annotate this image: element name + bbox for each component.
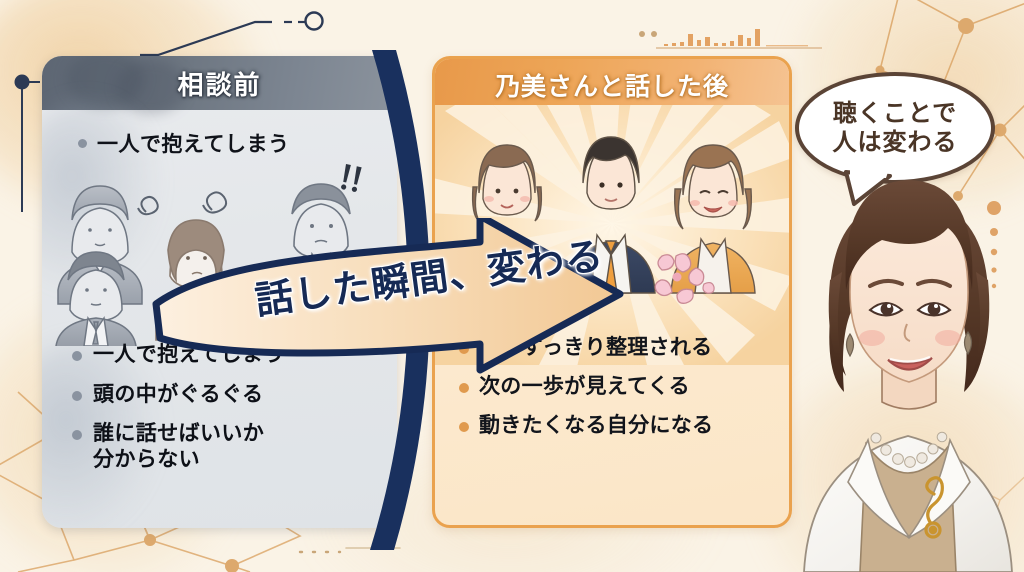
- after-bullet-2: 動きたくなる自分になる: [479, 413, 713, 438]
- top-left-connector: [140, 22, 305, 55]
- bullet-dot-icon: [459, 422, 469, 432]
- after-panel-title: 乃美さんと話した後: [495, 67, 729, 103]
- sakura-blossom-icon: [650, 250, 720, 310]
- bullet-dot-icon: [78, 139, 87, 148]
- nomi-san-portrait: [794, 168, 1024, 572]
- infographic-canvas: 相談前 一人で抱えてしまう: [0, 0, 1024, 572]
- left-connector: [22, 82, 40, 212]
- before-panel-title: 相談前: [177, 65, 261, 102]
- worry-swirl-left-icon: [138, 197, 158, 214]
- connector-node-filled-icon: [15, 75, 30, 90]
- speech-bubble-line-0: 聴くことで: [833, 99, 957, 128]
- speech-bubble-line-1: 人は変わる: [833, 128, 958, 157]
- before-bullet-2: 誰に話せばいいか 分からない: [93, 421, 264, 472]
- bullet-dot-icon: [72, 391, 82, 401]
- chart-bars: [664, 29, 808, 46]
- before-lead-item: 一人で抱えてしまう: [78, 128, 289, 158]
- a11y-text: 相談前 乃美さんと話した後 話した瞬間、変わる 聴くことで人は変わる: [0, 0, 1, 1]
- sakura-petal-icon: [703, 283, 714, 294]
- bottom-left-dotted-rule: [300, 548, 400, 552]
- list-item: 誰に話せばいいか 分からない: [72, 421, 382, 472]
- header-ink-blot-2: [116, 60, 186, 114]
- decorative-bar-chart: [648, 6, 828, 54]
- portrait-blush-left: [859, 330, 885, 346]
- exclamation-marks-icon: [341, 164, 362, 192]
- after-panel-header: 乃美さんと話した後: [435, 59, 789, 111]
- list-item: 動きたくなる自分になる: [459, 413, 789, 438]
- before-lead-label: 一人で抱えてしまう: [97, 133, 289, 156]
- connector-node-open-icon: [306, 13, 323, 30]
- worry-swirl-right-icon: [203, 192, 226, 212]
- bullet-dot-icon: [72, 351, 82, 361]
- transition-arrow: 話した瞬間、変わる: [150, 218, 790, 388]
- portrait-blush-right: [935, 330, 961, 346]
- bullet-dot-icon: [72, 430, 82, 440]
